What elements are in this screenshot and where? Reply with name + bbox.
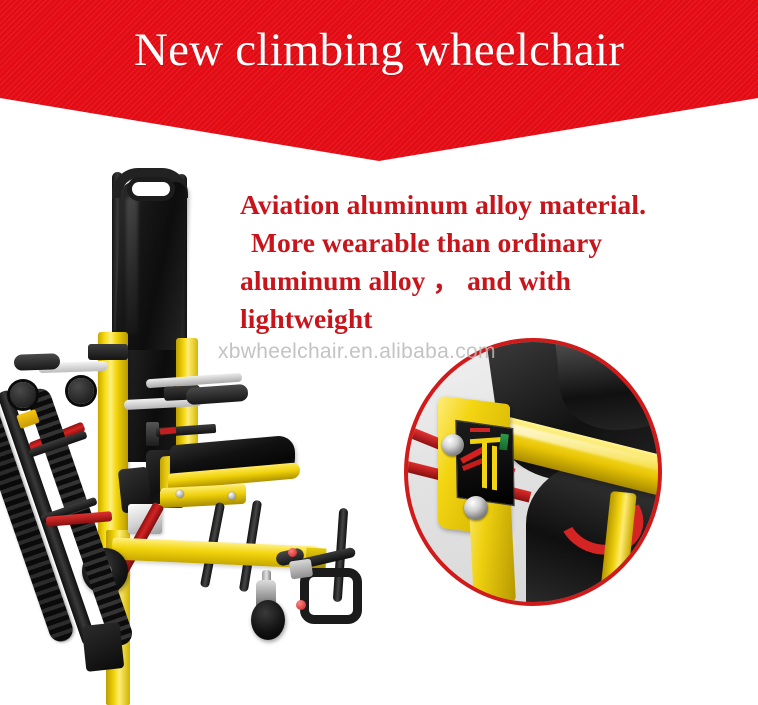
feature-copy-line-2: More wearable than ordinary [240,224,752,262]
armrest-upper-block [88,344,128,360]
red-button-icon [288,548,297,557]
handle-cutout-icon [132,182,170,196]
feature-copy: Aviation aluminum alloy material. More w… [240,186,752,338]
control-housing [289,559,313,580]
inset-sticker-green-mark [499,434,509,451]
banner-title-text: New climbing wheelchair [0,18,758,82]
product-promo-image: New climbing wheelchair [0,0,758,705]
feature-copy-line-3: aluminum alloy ， and with [240,262,752,300]
feature-copy-line-4: lightweight [240,300,752,338]
red-button-lower-icon [296,600,306,610]
inset-bolt-upper [442,434,464,456]
inset-sticker-yellow-bar-1 [482,442,487,489]
track-mount-plate [82,622,125,672]
inset-bolt-lower [464,496,488,520]
track-pulley-outer [10,382,36,408]
front-caster-wheel [251,600,285,640]
backrest-highlight [126,196,138,336]
armrest-lower-grip [185,384,248,405]
rubber-track-assembly [6,378,166,678]
inset-sticker-yellow-bar-2 [492,446,497,491]
feature-copy-line-1: Aviation aluminum alloy material. [240,186,752,224]
inset-sticker-text-line [470,428,490,432]
seat-bolt-right [228,492,236,500]
detail-closeup-circle [404,338,662,606]
armrest-upper-grip [14,353,61,371]
track-pulley-inner [68,378,94,404]
seat-bolt-left [176,490,184,498]
